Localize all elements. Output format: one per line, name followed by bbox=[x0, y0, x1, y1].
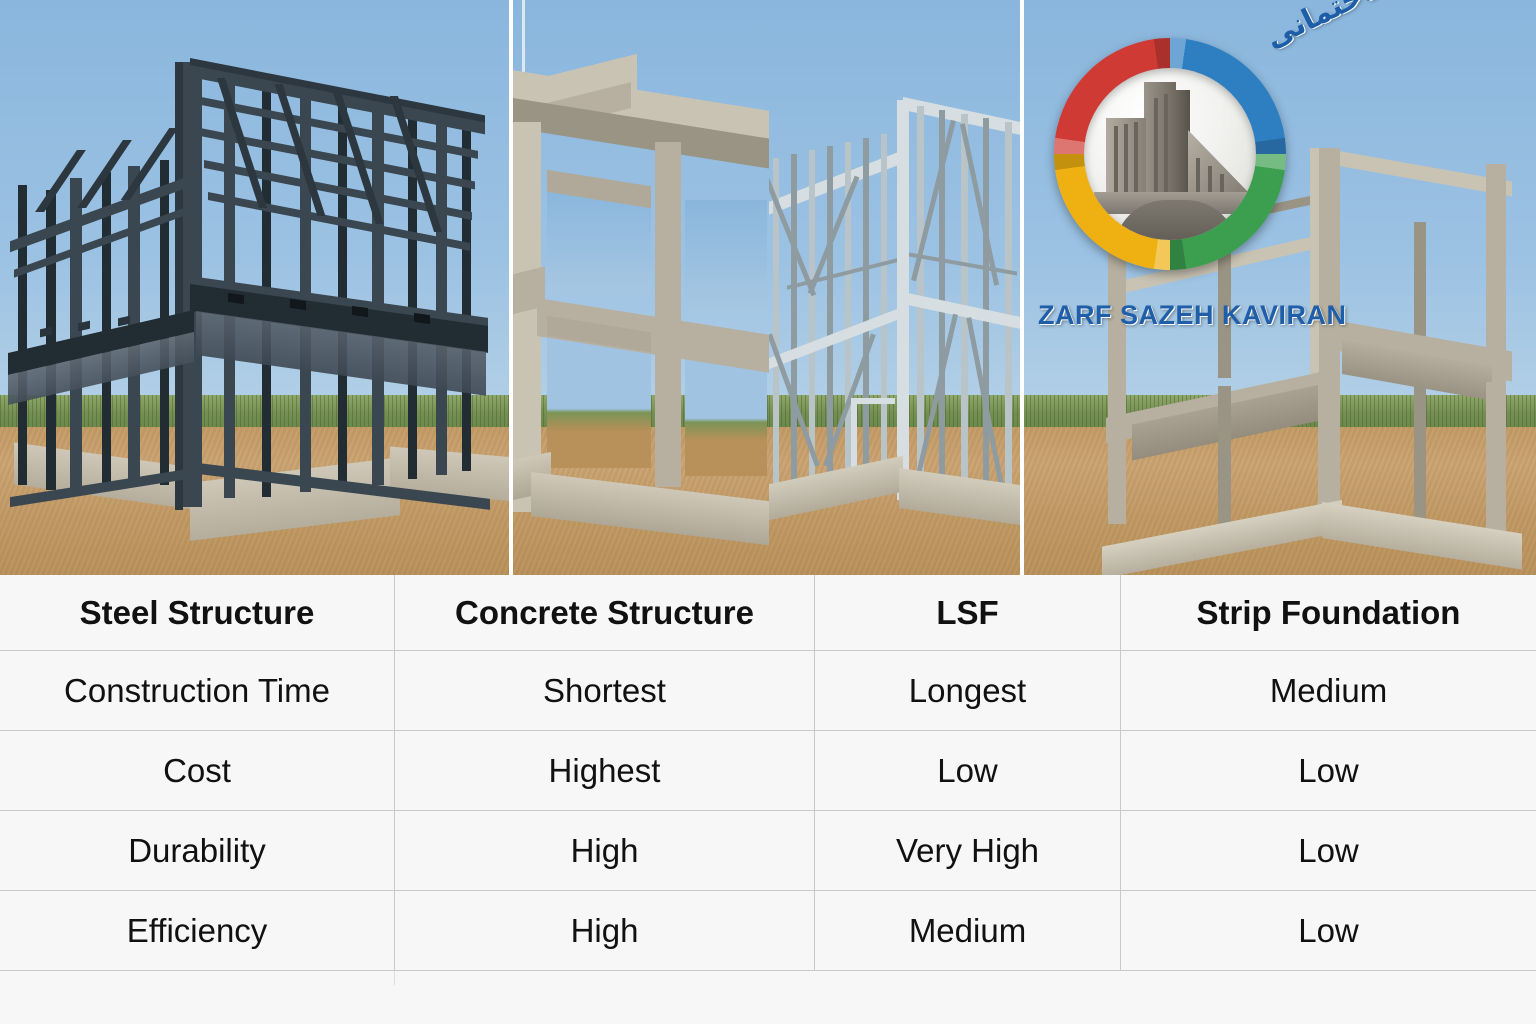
photo-strip: ZARF SAZEH KAVIRAN شرکت ساختمانی bbox=[0, 0, 1536, 575]
logo-brand-text: ZARF SAZEH KAVIRAN bbox=[1038, 300, 1348, 331]
concrete-structure-photo bbox=[511, 0, 769, 575]
cell-efficiency-lsf: Medium bbox=[815, 891, 1121, 970]
logo-persian-text: شرکت ساختمانی bbox=[1260, 0, 1495, 55]
lsf-structure-photo bbox=[769, 0, 1022, 575]
row-label-cost: Cost bbox=[0, 731, 395, 810]
cell-cost-concrete: Highest bbox=[395, 731, 815, 810]
cell-durability-lsf: Very High bbox=[815, 811, 1121, 890]
cell-durability-concrete: High bbox=[395, 811, 815, 890]
table-row: Durability High Very High Low bbox=[0, 811, 1536, 891]
cell-efficiency-concrete: High bbox=[395, 891, 815, 970]
header-lsf: LSF bbox=[815, 575, 1121, 650]
row-label-construction-time: Construction Time bbox=[0, 651, 395, 730]
panel-divider-1 bbox=[509, 0, 513, 575]
cell-construction-time-lsf: Longest bbox=[815, 651, 1121, 730]
table-row: Efficiency High Medium Low bbox=[0, 891, 1536, 971]
panel-divider-3 bbox=[1020, 0, 1024, 575]
steel-structure-photo bbox=[0, 0, 511, 575]
row-label-durability: Durability bbox=[0, 811, 395, 890]
header-strip-foundation: Strip Foundation bbox=[1121, 575, 1536, 650]
cell-construction-time-strip: Medium bbox=[1121, 651, 1536, 730]
table-row: Cost Highest Low Low bbox=[0, 731, 1536, 811]
company-logo bbox=[1054, 38, 1286, 270]
strip-foundation-photo: ZARF SAZEH KAVIRAN شرکت ساختمانی bbox=[1022, 0, 1536, 575]
header-concrete-structure: Concrete Structure bbox=[395, 575, 815, 650]
row-label-efficiency: Efficiency bbox=[0, 891, 395, 970]
header-steel-structure: Steel Structure bbox=[0, 575, 395, 650]
table-header-row: Steel Structure Concrete Structure LSF S… bbox=[0, 575, 1536, 651]
cell-cost-lsf: Low bbox=[815, 731, 1121, 810]
comparison-infographic: ZARF SAZEH KAVIRAN شرکت ساختمانی Steel S… bbox=[0, 0, 1536, 1024]
cell-construction-time-concrete: Shortest bbox=[395, 651, 815, 730]
logo-inner-disc bbox=[1084, 68, 1256, 240]
cell-cost-strip: Low bbox=[1121, 731, 1536, 810]
cell-efficiency-strip: Low bbox=[1121, 891, 1536, 970]
table-footer-stub bbox=[0, 971, 1536, 1019]
cell-durability-strip: Low bbox=[1121, 811, 1536, 890]
comparison-table: Steel Structure Concrete Structure LSF S… bbox=[0, 575, 1536, 1024]
table-row: Construction Time Shortest Longest Mediu… bbox=[0, 651, 1536, 731]
